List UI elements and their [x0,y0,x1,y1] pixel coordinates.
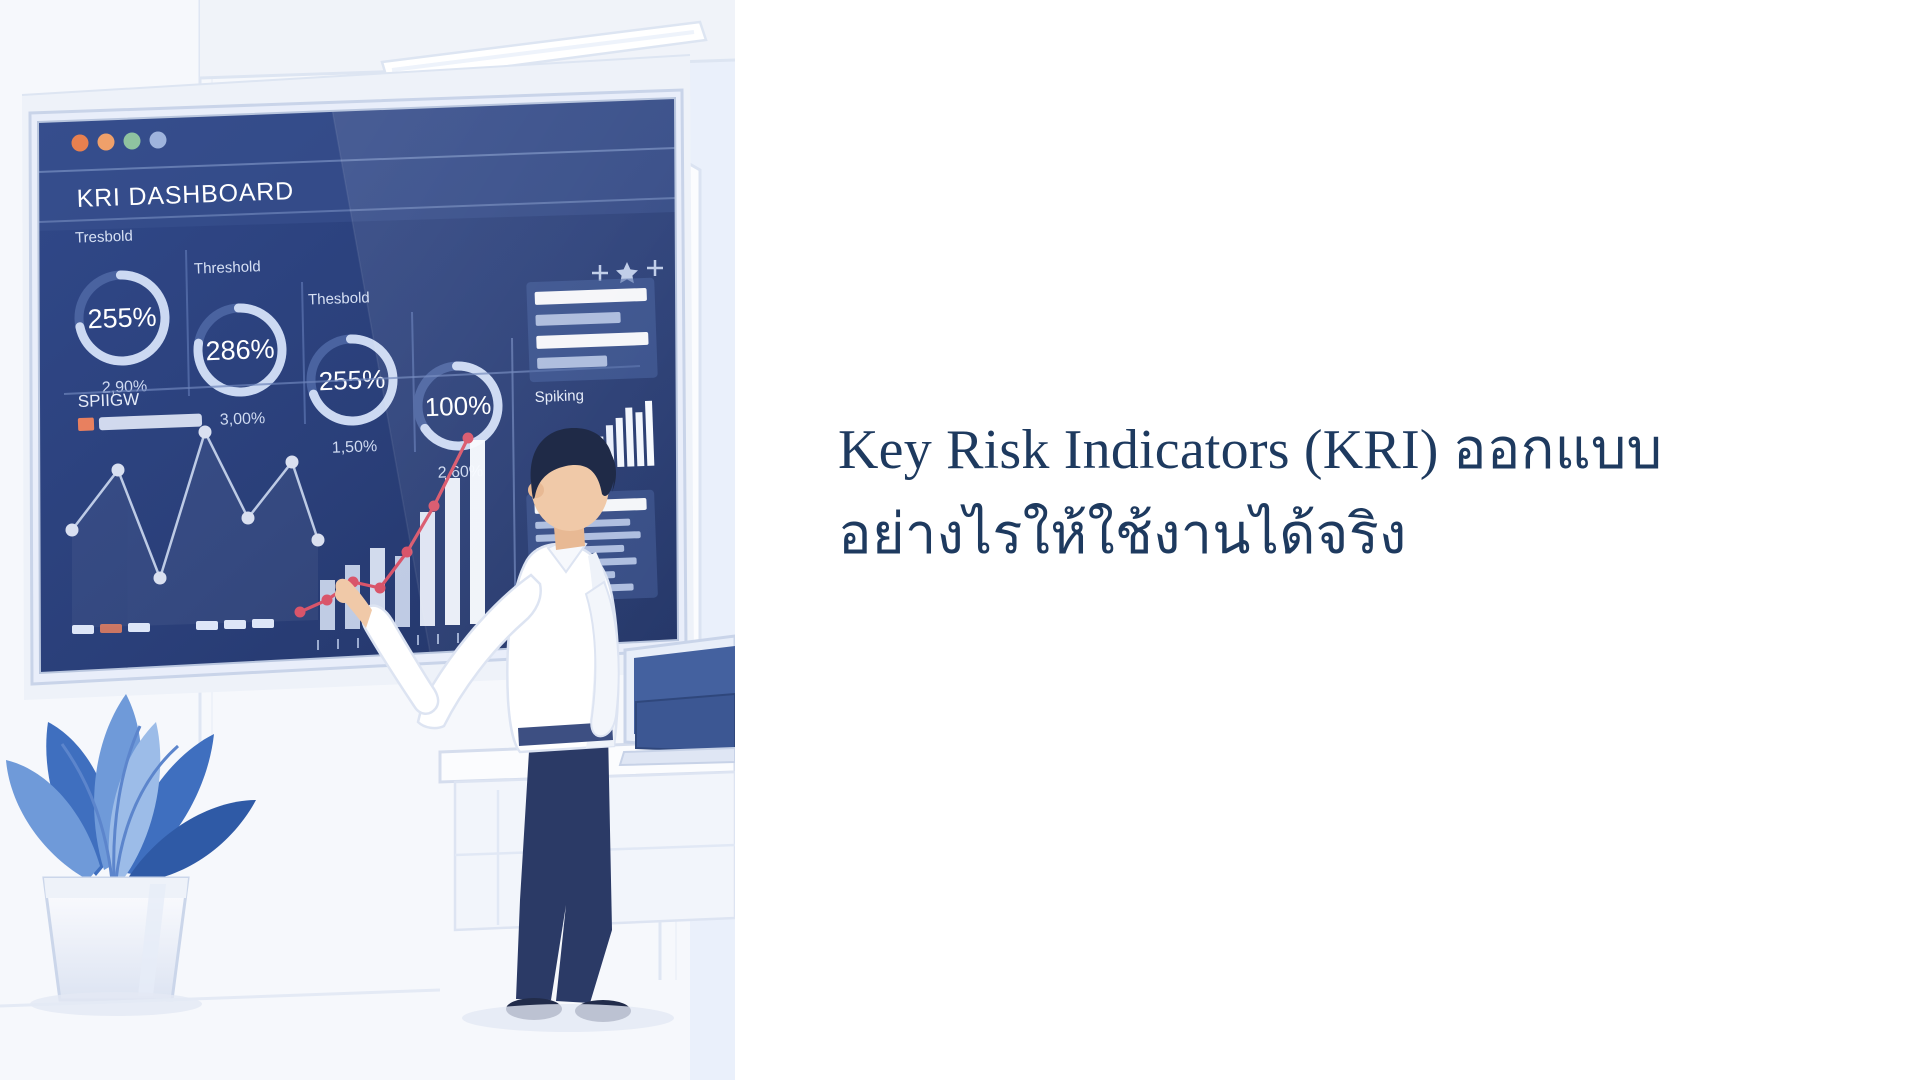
headline-line-2: อย่างไรให้ใช้งานได้จริง [838,493,1838,578]
chart-panel-label: SPIIGW [77,390,139,411]
slide-canvas: KRI DASHBOARD Tresbold 255% 2,90% Thresh… [0,0,1920,1080]
gauge-sub: 3,00% [220,410,266,429]
gauge-label: Threshold [194,258,261,277]
gauge-label: Tresbold [75,228,133,247]
desk-laptop[interactable] [620,694,735,765]
maximize-dot[interactable] [124,133,141,150]
minimize-dot[interactable] [98,134,115,151]
gauge-label: Thesbold [308,289,370,308]
office-illustration: KRI DASHBOARD Tresbold 255% 2,90% Thresh… [0,0,735,1080]
gauge-value: 255% [87,302,157,335]
gauge-value: 286% [205,334,275,367]
headline-line-1: Key Risk Indicators (KRI) ออกแบบ [838,408,1838,493]
page-title: Key Risk Indicators (KRI) ออกแบบ อย่างไร… [838,408,1838,578]
close-dot[interactable] [72,135,89,152]
gauge-sub: 1,50% [331,438,377,457]
extra-dot[interactable] [150,132,167,149]
